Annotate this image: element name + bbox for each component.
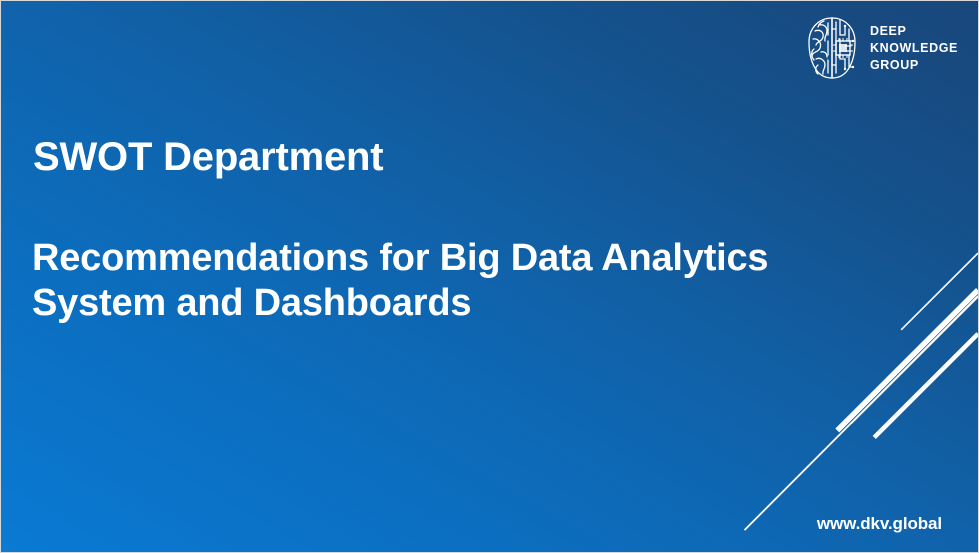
website-url[interactable]: www.dkv.global: [817, 514, 942, 534]
accent-line-4: [901, 253, 978, 330]
slide-subtitle-line-1: Recommendations for Big Data Analytics: [32, 236, 832, 281]
brand-name-line-3: GROUP: [870, 57, 958, 74]
brain-circuit-icon: [805, 15, 859, 81]
accent-line-3: [851, 297, 978, 424]
slide-subtitle: Recommendations for Big Data Analytics S…: [32, 236, 832, 326]
title-slide: DEEP KNOWLEDGE GROUP SWOT Department Rec…: [0, 0, 979, 553]
brand-name: DEEP KNOWLEDGE GROUP: [870, 23, 958, 74]
accent-line-2: [837, 290, 978, 430]
slide-title: SWOT Department: [33, 135, 383, 180]
accent-line-1: [744, 296, 978, 530]
brand-name-line-2: KNOWLEDGE: [870, 40, 958, 57]
slide-subtitle-line-2: System and Dashboards: [32, 281, 832, 326]
brand-name-line-1: DEEP: [870, 23, 958, 40]
accent-line-5: [874, 334, 978, 438]
brand-logo: DEEP KNOWLEDGE GROUP: [805, 15, 958, 81]
